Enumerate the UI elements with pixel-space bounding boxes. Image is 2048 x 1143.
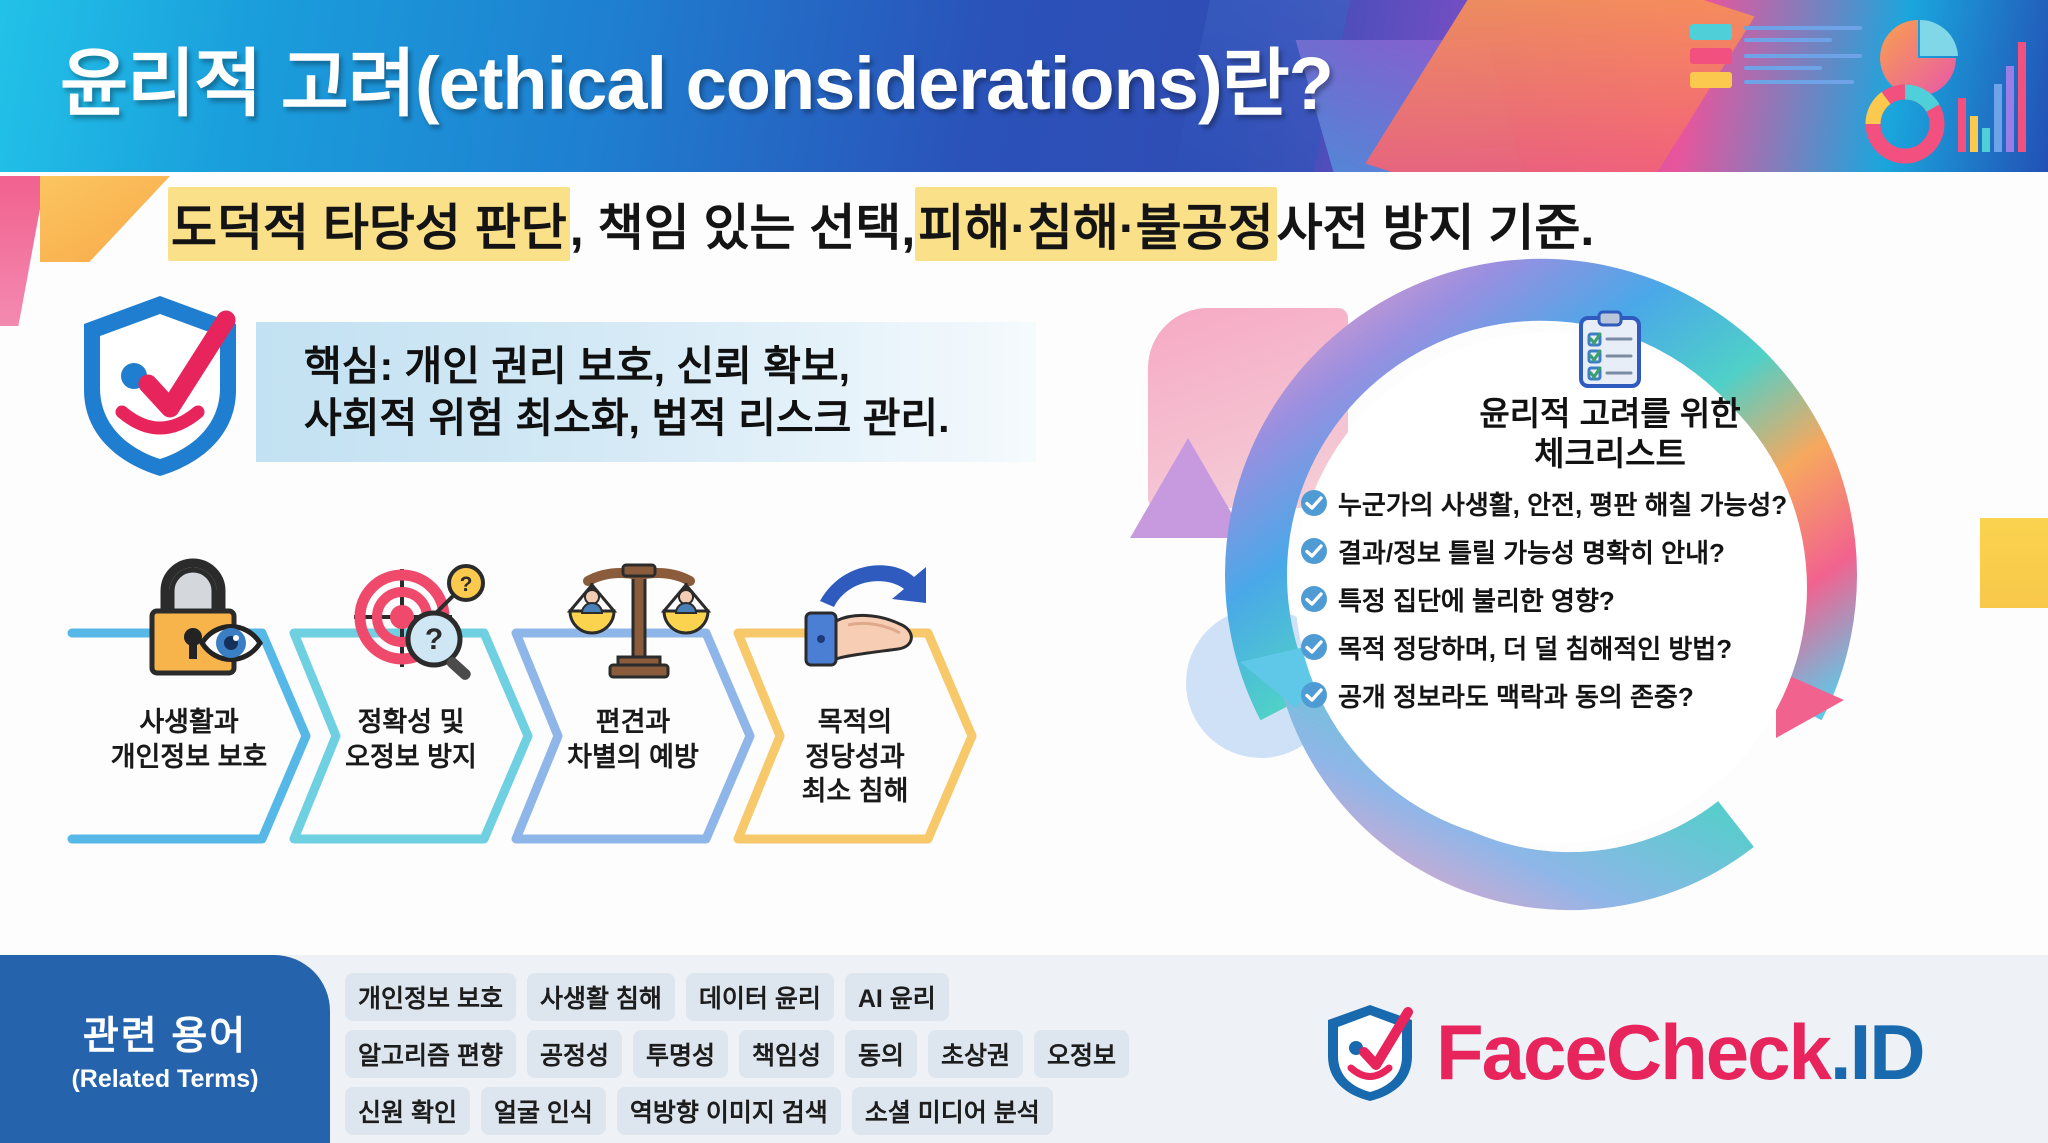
related-terms-label: 관련 용어 (Related Terms) (0, 955, 330, 1143)
facecheck-shield-icon (1320, 1000, 1420, 1104)
flow-step-3[interactable]: 편견과 차별의 예방 (510, 555, 768, 845)
term-chip[interactable]: 데이터 윤리 (686, 973, 834, 1021)
checklist-item-label: 목적 정당하며, 더 덜 침해적인 방법? (1338, 629, 1732, 666)
checklist-item[interactable]: 목적 정당하며, 더 덜 침해적인 방법? (1300, 629, 1920, 666)
core-line-2: 사회적 위험 최소화, 법적 리스크 관리. (304, 392, 1036, 444)
checklist-items: 누군가의 사생활, 안전, 평판 해칠 가능성? 결과/정보 틀릴 가능성 명확… (1300, 485, 1920, 725)
checklist-card: 윤리적 고려를 위한 체크리스트 누군가의 사생활, 안전, 평판 해칠 가능성… (1300, 310, 1920, 850)
page-title: 윤리적 고려(ethical considerations)란? (60, 24, 1333, 131)
term-chip[interactable]: 초상권 (928, 1030, 1023, 1078)
terms-row: 신원 확인 얼굴 인식 역방향 이미지 검색 소셜 미디어 분석 (345, 1087, 1135, 1135)
core-section: 핵심: 개인 권리 보호, 신뢰 확보, 사회적 위험 최소화, 법적 리스크 … (60, 300, 1060, 490)
flow-step-2-label: 정확성 및 오정보 방지 (288, 705, 534, 774)
deco-square-yellow (1980, 518, 2048, 608)
term-chip[interactable]: 신원 확인 (345, 1087, 470, 1135)
term-chip[interactable]: 투명성 (633, 1030, 728, 1078)
charts-deco-icon (1670, 6, 2030, 166)
term-chip[interactable]: 알고리즘 편향 (345, 1030, 516, 1078)
term-chip[interactable]: 얼굴 인식 (481, 1087, 606, 1135)
checklist-item[interactable]: 공개 정보라도 맥락과 동의 존중? (1300, 677, 1920, 714)
term-chip[interactable]: 소셜 미디어 분석 (852, 1087, 1053, 1135)
clipboard-check-icon (1575, 310, 1645, 390)
term-chip[interactable]: 책임성 (739, 1030, 834, 1078)
flow-step-1[interactable]: 사생활과 개인정보 보호 (66, 555, 324, 845)
term-chip[interactable]: AI 윤리 (845, 973, 949, 1021)
term-chip[interactable]: 사생활 침해 (527, 973, 675, 1021)
facecheck-wordmark: FaceCheck.ID (1436, 1007, 1924, 1098)
term-chip[interactable]: 오정보 (1034, 1030, 1129, 1078)
related-terms-label-kr: 관련 용어 (83, 1005, 247, 1061)
checklist-item-label: 누군가의 사생활, 안전, 평판 해칠 가능성? (1338, 485, 1787, 522)
flow-step-4-label: 목적의 정당성과 최소 침해 (732, 705, 978, 809)
brand-name-blue: .ID (1830, 1008, 1924, 1096)
flow-steps: 사생활과 개인정보 보호 ? (66, 555, 1116, 855)
svg-text:?: ? (460, 573, 473, 596)
checklist-item-label: 공개 정보라도 맥락과 동의 존중? (1338, 677, 1694, 714)
check-circle-icon (1300, 681, 1328, 709)
flow-step-4[interactable]: 목적의 정당성과 최소 침해 (732, 555, 990, 845)
related-terms-list: 개인정보 보호 사생활 침해 데이터 윤리 AI 윤리 알고리즘 편향 공정성 … (345, 973, 1135, 1143)
term-chip[interactable]: 공정성 (527, 1030, 622, 1078)
term-chip[interactable]: 동의 (845, 1030, 917, 1078)
flow-step-2[interactable]: ? ? 정확성 및 오정보 방지 (288, 555, 546, 845)
svg-text:?: ? (425, 623, 443, 656)
brand-name-red: FaceCheck (1436, 1008, 1830, 1096)
terms-row: 알고리즘 편향 공정성 투명성 책임성 동의 초상권 오정보 (345, 1030, 1135, 1078)
shield-check-face-icon (60, 284, 260, 484)
lock-eye-icon (120, 555, 270, 681)
check-circle-icon (1300, 537, 1328, 565)
infographic-canvas: 윤리적 고려(ethical considerations)란? (0, 0, 2048, 1143)
core-line-1: 핵심: 개인 권리 보호, 신뢰 확보, (304, 340, 1036, 392)
checklist-item-label: 특정 집단에 불리한 영향? (1338, 581, 1615, 618)
checklist-item[interactable]: 누군가의 사생활, 안전, 평판 해칠 가능성? (1300, 485, 1920, 522)
check-circle-icon (1300, 633, 1328, 661)
subtitle-highlight-1: 도덕적 타당성 판단 (168, 187, 570, 261)
related-terms-label-en: (Related Terms) (71, 1065, 258, 1094)
term-chip[interactable]: 개인정보 보호 (345, 973, 516, 1021)
balance-scale-icon (564, 555, 714, 681)
check-circle-icon (1300, 489, 1328, 517)
check-circle-icon (1300, 585, 1328, 613)
header-banner: 윤리적 고려(ethical considerations)란? (0, 0, 2048, 172)
flow-step-1-label: 사생활과 개인정보 보호 (66, 705, 312, 774)
flow-step-3-label: 편견과 차별의 예방 (510, 705, 756, 774)
core-text-box: 핵심: 개인 권리 보호, 신뢰 확보, 사회적 위험 최소화, 법적 리스크 … (256, 322, 1036, 462)
checklist-item[interactable]: 특정 집단에 불리한 영향? (1300, 581, 1920, 618)
subtitle-mid: , 책임 있는 선택, (570, 188, 915, 260)
checklist-section: 윤리적 고려를 위한 체크리스트 누군가의 사생활, 안전, 평판 해칠 가능성… (1140, 238, 2040, 968)
terms-row: 개인정보 보호 사생활 침해 데이터 윤리 AI 윤리 (345, 973, 1135, 1021)
facecheck-logo[interactable]: FaceCheck.ID (1320, 1000, 1924, 1104)
checklist-item[interactable]: 결과/정보 틀릴 가능성 명확히 안내? (1300, 533, 1920, 570)
hand-arrow-icon (786, 555, 936, 681)
term-chip[interactable]: 역방향 이미지 검색 (617, 1087, 841, 1135)
target-search-icon: ? ? (342, 555, 492, 681)
checklist-title: 윤리적 고려를 위한 체크리스트 (1479, 394, 1740, 475)
checklist-item-label: 결과/정보 틀릴 가능성 명확히 안내? (1338, 533, 1725, 570)
